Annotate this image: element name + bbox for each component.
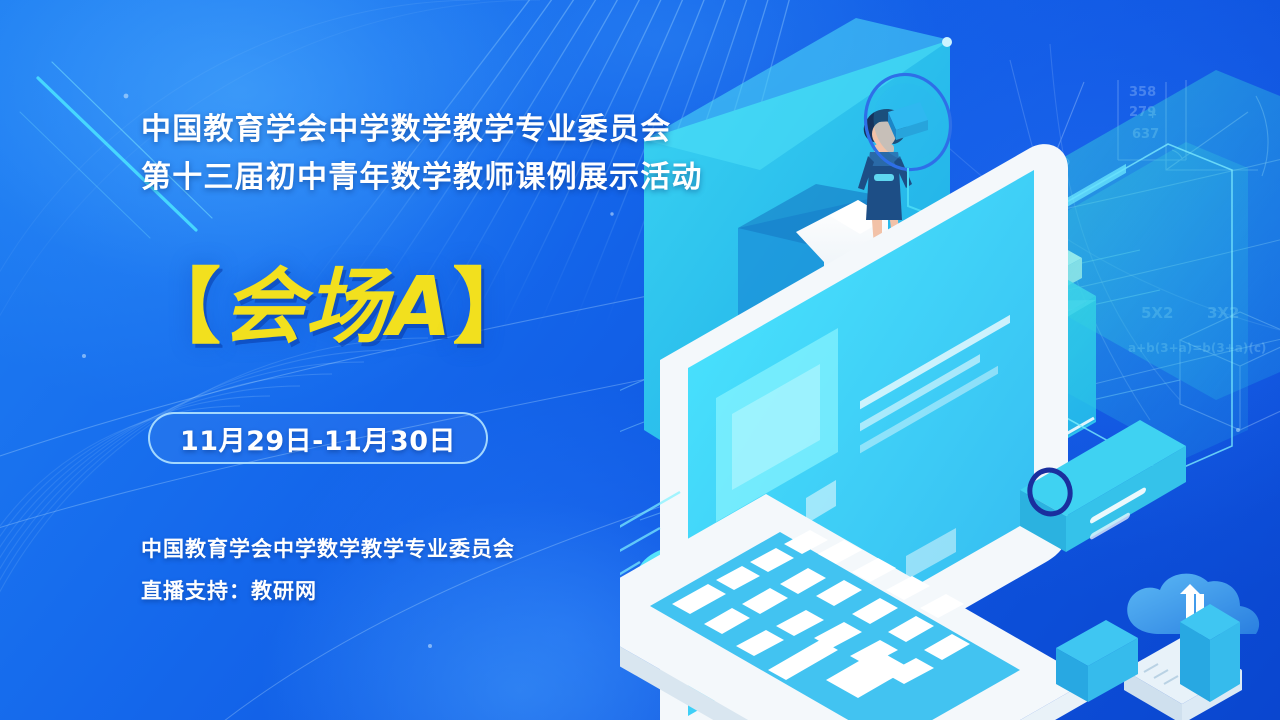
footer-broadcast-support: 直播支持：教研网 xyxy=(141,575,317,605)
event-title-line-2: 第十三届初中青年数学教师课例展示活动 xyxy=(141,152,703,196)
bracket-close: 】 xyxy=(452,260,535,355)
text-content: 中国教育学会中学数学教学专业委员会 第十三届初中青年数学教师课例展示活动 【会场… xyxy=(0,0,700,720)
isometric-illustration xyxy=(620,0,1280,720)
org-title-line-1: 中国教育学会中学数学教学专业委员会 xyxy=(141,104,671,148)
bracket-open: 【 xyxy=(139,260,222,355)
poster-canvas: 358 279 637 + 5X2 3X2 a+b(3+a)=b(3+a)(c)… xyxy=(0,0,1280,720)
cloud-sync-icon xyxy=(1124,574,1259,720)
venue-label: 会场A xyxy=(222,260,452,355)
date-range-text: 11月29日-11月30日 xyxy=(180,419,456,458)
date-badge: 11月29日-11月30日 xyxy=(148,412,488,464)
footer-organizer: 中国教育学会中学数学教学专业委员会 xyxy=(141,533,515,563)
page-title: 【会场A】 xyxy=(139,240,536,359)
